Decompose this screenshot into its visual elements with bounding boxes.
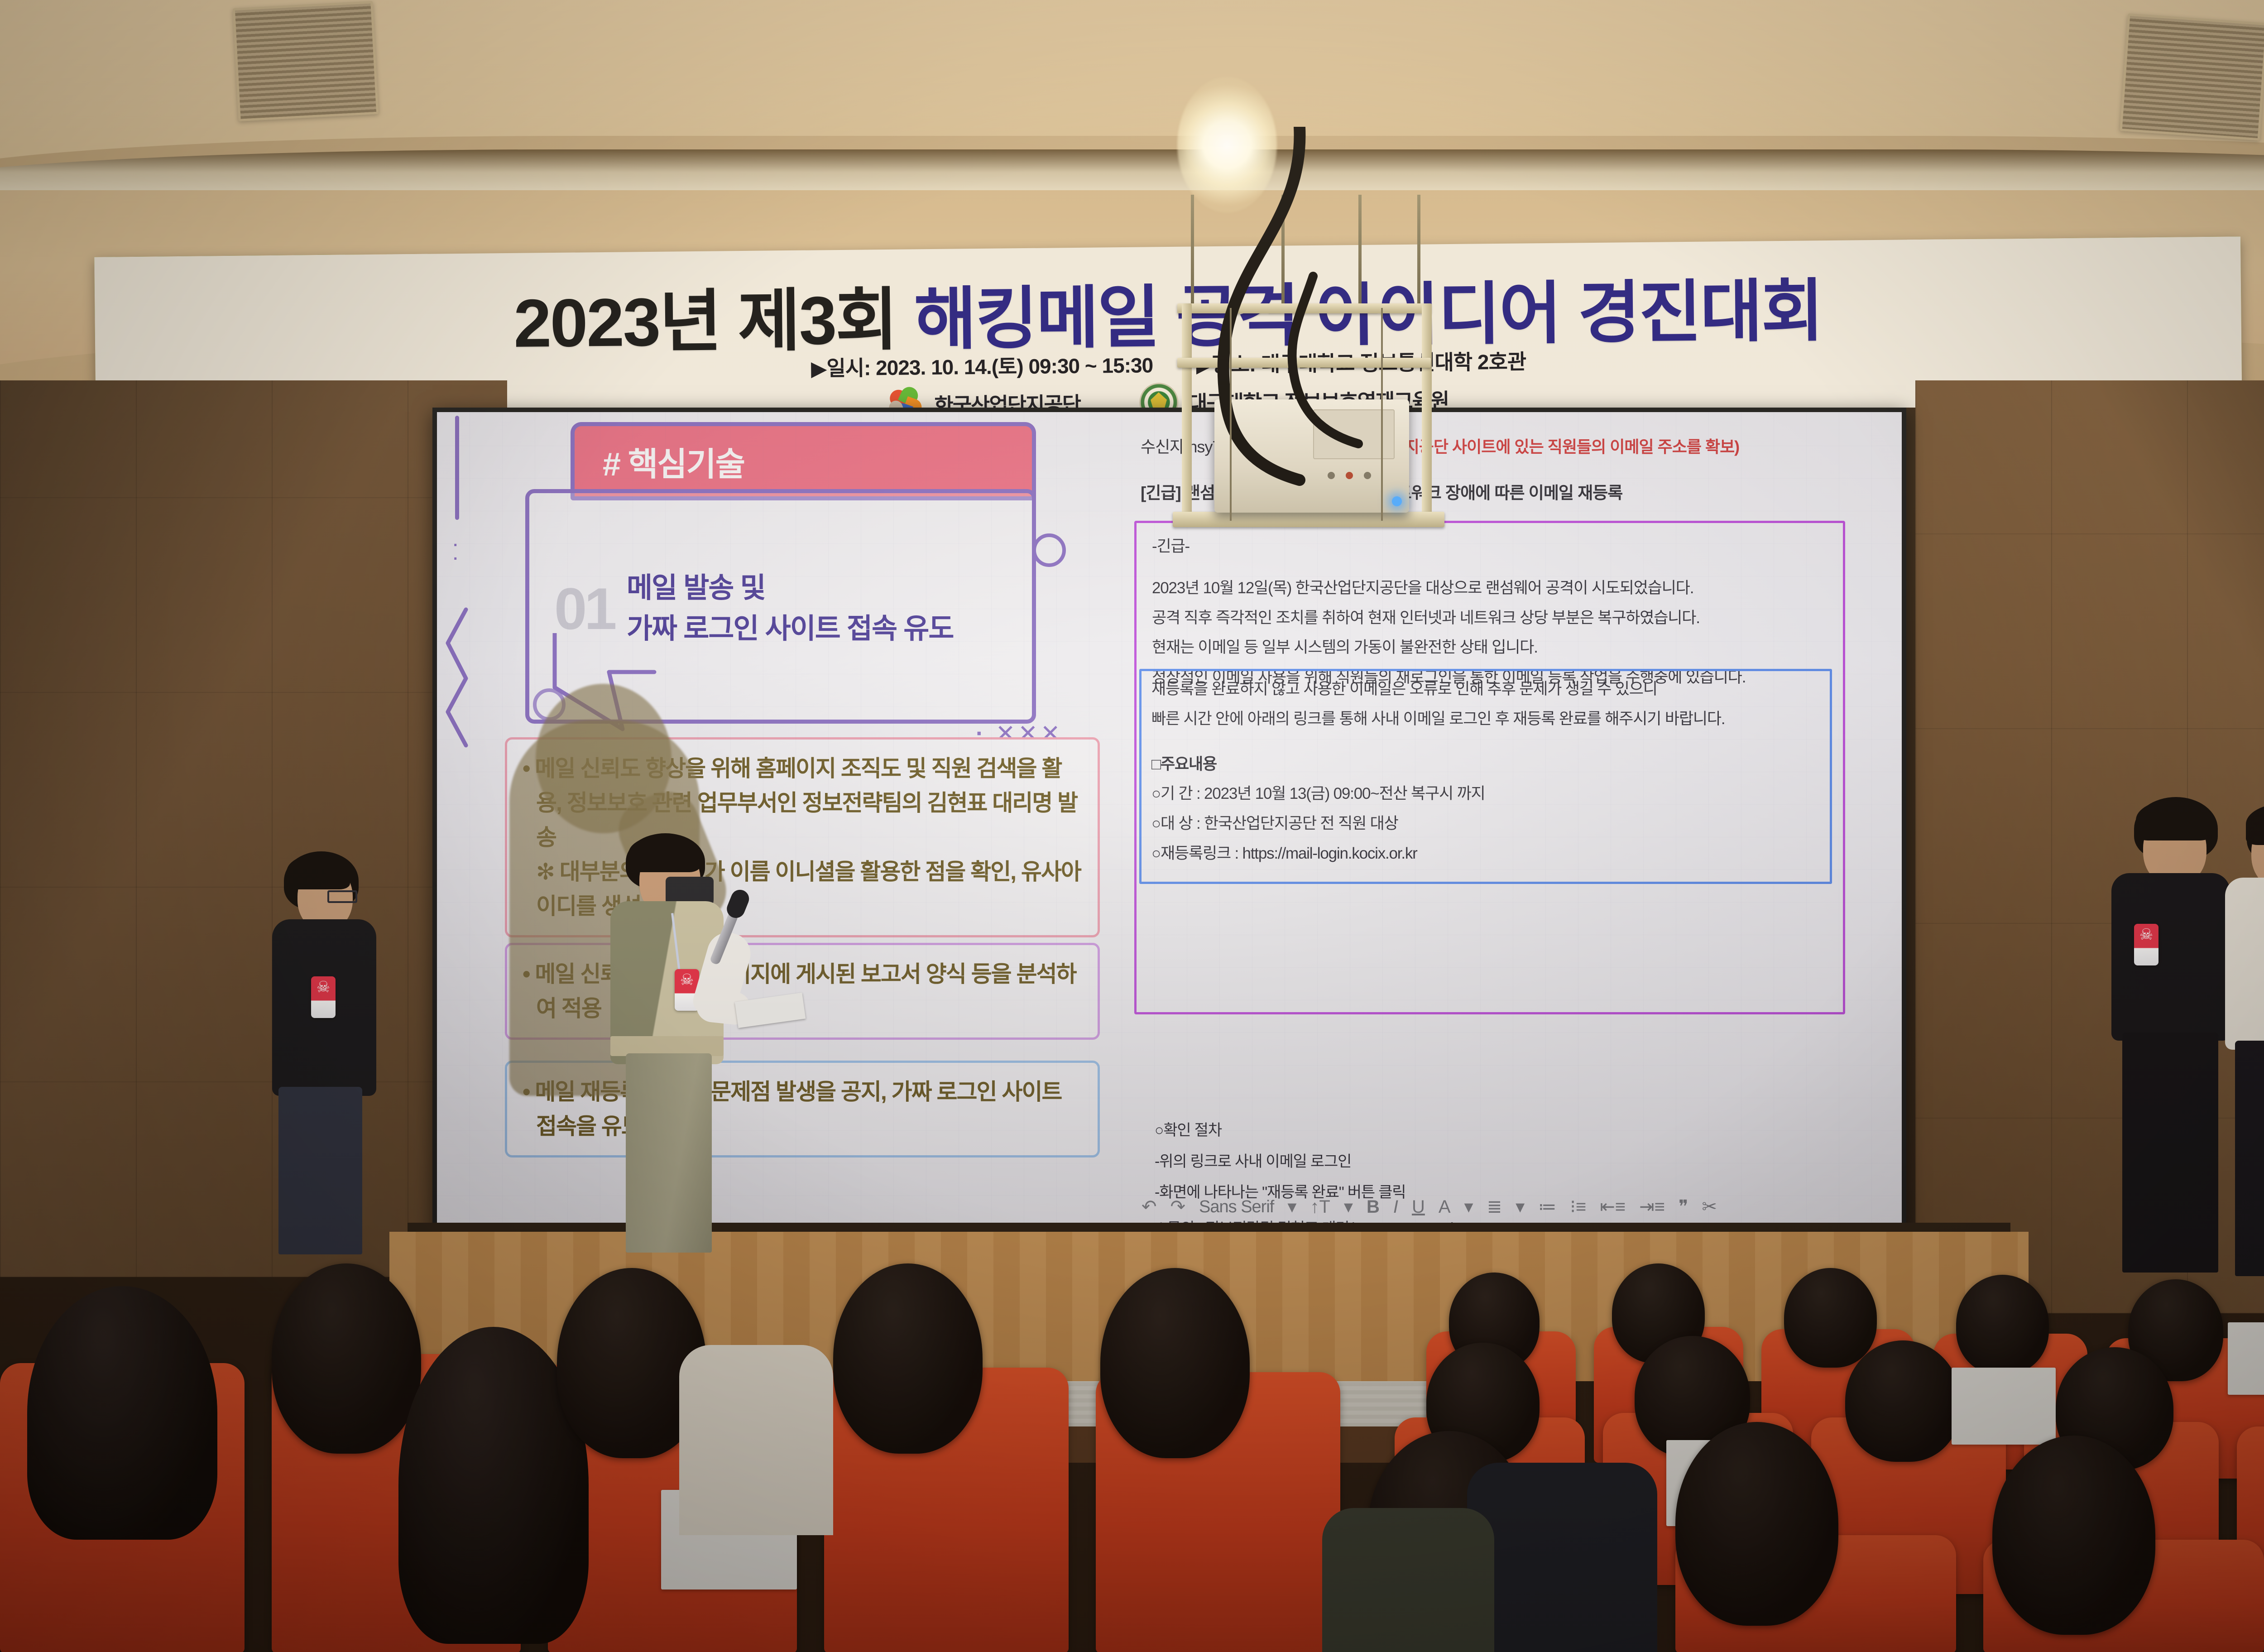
hair-fringe: [287, 854, 350, 889]
auditorium-presentation-photo: 2023년 제3회 해킹메일 공격 아이디어 경진대회 ▶일시: 2023. 1…: [0, 0, 2264, 1652]
underline-button[interactable]: U: [1412, 1198, 1425, 1216]
chevron-down-icon[interactable]: ▾: [1287, 1198, 1296, 1216]
torso-black-tshirt: [2111, 873, 2230, 1041]
font-size-icon[interactable]: ↑T: [1310, 1198, 1330, 1216]
undo-icon[interactable]: ↶: [1142, 1198, 1157, 1216]
decoration-zigzag-icon: [442, 607, 474, 756]
redo-icon[interactable]: ↷: [1170, 1198, 1186, 1216]
compose-format-toolbar[interactable]: ↶ ↷ Sans Serif ▾ ↑T ▾ B I U A ▾ ≣ ▾ ≔ ⁝≡…: [1142, 1190, 1803, 1224]
chevron-down-icon[interactable]: ▾: [1344, 1198, 1353, 1216]
seat-writing-tablet[interactable]: [1952, 1368, 2056, 1445]
mail-highlight-line: 재등록을 완료하지 않고 사용한 이메일은 오류로 인해 추후 문제가 생길 수…: [1151, 679, 1820, 699]
ceiling-projector-rig: [1146, 195, 1472, 593]
audience-head: [1100, 1268, 1250, 1458]
slide-step-title: 메일 발송 및 가짜 로그인 사이트 접속 유도: [627, 568, 953, 649]
ceiling-vent: [2120, 14, 2264, 141]
legs-beige-sweatpants: [626, 1053, 712, 1253]
decoration-dots: ..: [453, 534, 457, 562]
remove-formatting-icon[interactable]: ✂: [1702, 1198, 1717, 1216]
chevron-down-icon[interactable]: ▾: [1516, 1198, 1525, 1216]
left-wall: [0, 380, 507, 1277]
mail-summary-item: ○기 간 : 2023년 10월 13(금) 09:00~전산 복구시 까지: [1151, 784, 1820, 804]
audience-head: [1675, 1422, 1838, 1626]
decoration-circle: [1032, 533, 1066, 567]
seat-writing-tablet[interactable]: [2228, 1322, 2264, 1395]
audience-head: [272, 1263, 421, 1454]
name-badge: [2134, 924, 2158, 965]
text-color-button[interactable]: A: [1439, 1198, 1451, 1216]
font-family-select[interactable]: Sans Serif: [1199, 1197, 1274, 1217]
mail-summary-item: ○대 상 : 한국산업단지공단 전 직원 대상: [1151, 814, 1820, 834]
mail-highlight-box: 재등록을 완료하지 않고 사용한 이메일은 오류로 인해 추후 문제가 생길 수…: [1139, 669, 1832, 884]
presenter-student: [598, 833, 779, 1268]
legs-dark-jeans: [278, 1087, 362, 1254]
bulleted-list-icon[interactable]: ⁝≡: [1570, 1198, 1586, 1216]
legs-black-pants: [2122, 1032, 2218, 1273]
slide-step-title-line1: 메일 발송 및: [627, 568, 953, 609]
audience-shoulders-dark: [1322, 1508, 1494, 1652]
mail-body-line: 공격 직후 즉각적인 조치를 취하여 현재 인터넷과 네트워크 상당 부분은 복…: [1152, 608, 1828, 628]
banner-date: ▶일시: 2023. 10. 14.(토) 09:30 ~ 15:30: [811, 353, 1153, 380]
audience-head: [1845, 1340, 1961, 1462]
glasses-icon: [327, 890, 357, 903]
name-badge: [311, 976, 336, 1018]
rig-suspension-rod: [1417, 195, 1420, 308]
bold-button[interactable]: B: [1367, 1198, 1380, 1216]
legs-black-pants: [2235, 1041, 2264, 1276]
chevron-down-icon[interactable]: ▾: [1464, 1198, 1473, 1216]
mail-registration-link[interactable]: ○재등록링크 : https://mail-login.kocix.or.kr: [1151, 844, 1820, 864]
mail-procedure-item: -위의 링크로 사내 이메일 로그인: [1155, 1152, 1405, 1172]
audience-head: [1956, 1275, 2049, 1374]
banner-title-part1: 2023년 제3회: [513, 281, 915, 361]
torso-white-tshirt: [2225, 878, 2264, 1050]
student-left: [269, 851, 419, 1259]
mail-body-line: 현재는 이메일 등 일부 시스템의 가동이 불완전한 상태 입니다.: [1152, 638, 1828, 658]
slide-step-number: 01: [554, 575, 614, 643]
audience-head: [1784, 1268, 1877, 1368]
hair-fringe: [2246, 803, 2264, 845]
mail-procedure-header: ○확인 절차: [1155, 1121, 1405, 1140]
italic-button[interactable]: I: [1393, 1198, 1398, 1216]
audience-head: [1992, 1436, 2155, 1635]
indent-more-icon[interactable]: ⇥≡: [1639, 1198, 1665, 1216]
rig-thin-wire: [1230, 308, 1232, 521]
slide-section-tag-label: # 핵심기술: [575, 437, 744, 485]
rig-thin-wire: [1381, 308, 1383, 521]
rig-cage-post: [1422, 303, 1432, 516]
audience-shoulders-white: [679, 1345, 833, 1535]
ceiling-vent: [233, 1, 379, 121]
mail-summary-header: □주요내용: [1151, 754, 1820, 774]
hair-fringe: [2136, 800, 2212, 840]
projector-cable: [1164, 127, 1417, 602]
align-icon[interactable]: ≣: [1487, 1198, 1502, 1216]
quote-icon[interactable]: ❞: [1679, 1198, 1688, 1216]
decoration-vertical-bar: [455, 416, 459, 520]
slide-step-title-line2: 가짜 로그인 사이트 접속 유도: [627, 609, 953, 649]
hair-fringe: [628, 835, 700, 872]
audience-shoulders-dark: [1467, 1463, 1657, 1652]
audience-head: [833, 1263, 983, 1454]
numbered-list-icon[interactable]: ≔: [1538, 1198, 1556, 1216]
audience-head-long-hair: [27, 1286, 217, 1540]
indent-less-icon[interactable]: ⇤≡: [1600, 1198, 1626, 1216]
student-right-white-tee: [2223, 801, 2264, 1285]
mail-highlight-line: 빠른 시간 안에 아래의 링크를 통해 사내 이메일 로그인 후 재등록 완료를…: [1151, 709, 1820, 729]
